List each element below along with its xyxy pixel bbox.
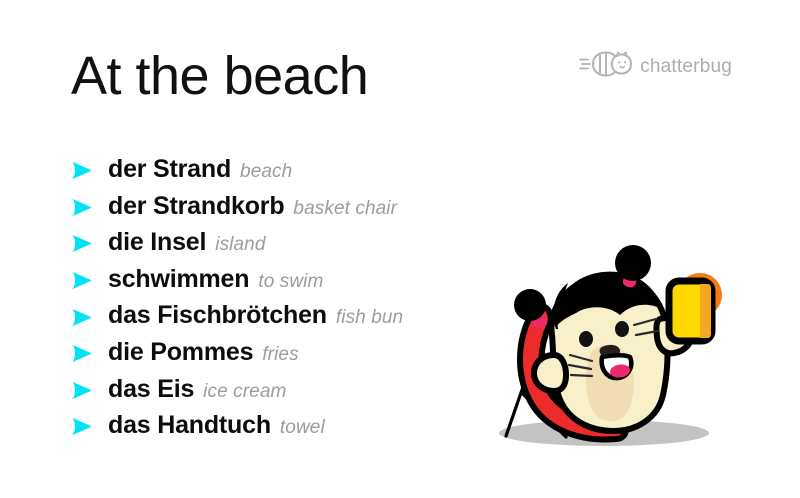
list-item: die Insel island: [68, 228, 498, 265]
play-triangle-icon: [71, 417, 93, 441]
list-item: das Eis ice cream: [68, 375, 498, 412]
vocabulary-list: der Strand beach der Strandkorb basket c…: [68, 155, 498, 448]
vocab-term: die Insel: [108, 228, 206, 257]
play-triangle-icon: [71, 381, 93, 405]
list-item: der Strandkorb basket chair: [68, 192, 498, 229]
bullet-container: [68, 411, 108, 448]
play-triangle-icon: [71, 198, 93, 222]
play-triangle-icon: [71, 234, 93, 258]
vocab-translation: basket chair: [293, 198, 397, 220]
slide-canvas: At the beach: [0, 0, 800, 498]
vocab-term: das Handtuch: [108, 411, 271, 440]
chatterbug-bug-logo-icon: [579, 50, 633, 83]
play-triangle-icon: [71, 308, 93, 332]
brand-name: chatterbug: [640, 57, 732, 76]
vocab-term: das Fischbrötchen: [108, 301, 327, 330]
bullet-container: [68, 301, 108, 338]
vocab-term: das Eis: [108, 375, 194, 404]
vocab-translation: fries: [262, 344, 298, 366]
mascot-eye-right: [615, 321, 629, 337]
mascot-arm-left: [534, 355, 566, 391]
drink-glass: [669, 281, 712, 341]
list-item: das Handtuch towel: [68, 411, 498, 448]
mascot-eye-left: [579, 331, 593, 347]
bullet-container: [68, 265, 108, 302]
chatterbug-mascot-illustration: [470, 243, 730, 455]
bullet-container: [68, 155, 108, 192]
list-item: die Pommes fries: [68, 338, 498, 375]
list-item: das Fischbrötchen fish bun: [68, 301, 498, 338]
play-triangle-icon: [71, 161, 93, 185]
vocab-term: der Strand: [108, 155, 231, 184]
vocab-translation: island: [215, 234, 265, 256]
vocab-term: die Pommes: [108, 338, 253, 367]
brand-logo: chatterbug: [579, 50, 732, 83]
list-item: schwimmen to swim: [68, 265, 498, 302]
bullet-container: [68, 228, 108, 265]
vocab-translation: fish bun: [336, 307, 403, 329]
vocab-translation: to swim: [258, 271, 323, 293]
vocab-term: der Strandkorb: [108, 192, 284, 221]
bullet-container: [68, 192, 108, 229]
list-item: der Strand beach: [68, 155, 498, 192]
vocab-translation: ice cream: [203, 381, 286, 403]
bullet-container: [68, 338, 108, 375]
bullet-container: [68, 375, 108, 412]
page-title: At the beach: [71, 48, 368, 105]
play-triangle-icon: [71, 271, 93, 295]
vocab-term: schwimmen: [108, 265, 249, 294]
play-triangle-icon: [71, 344, 93, 368]
vocab-translation: towel: [280, 417, 325, 439]
vocab-translation: beach: [240, 161, 292, 183]
